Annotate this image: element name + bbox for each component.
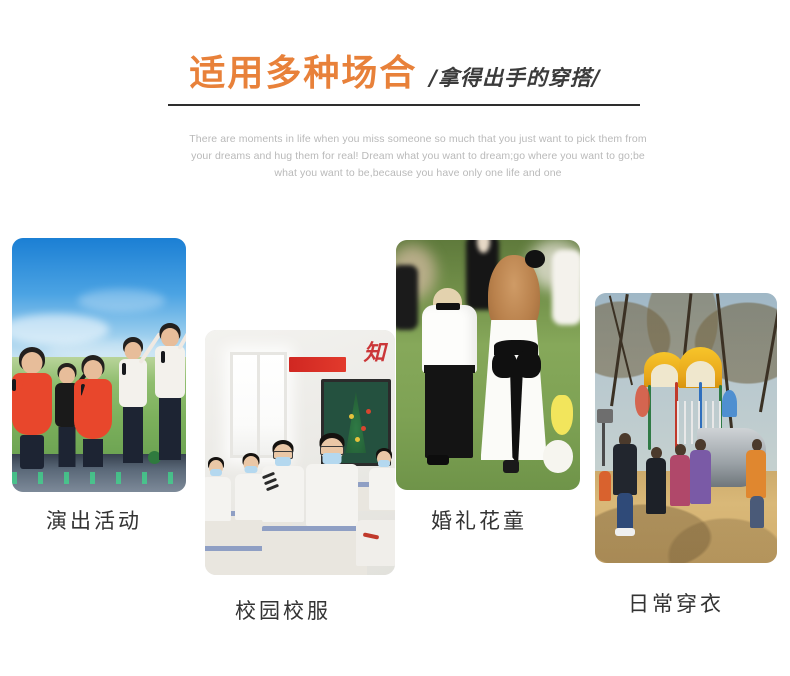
- boy-trousers: [425, 370, 473, 458]
- photo-playground: [595, 293, 777, 563]
- girl-shoe: [503, 460, 520, 473]
- photo-classroom: 知: [205, 330, 395, 575]
- visitor-shoes: [615, 528, 635, 536]
- student-figure-glasses: [258, 440, 307, 543]
- photo-card-performance[interactable]: [12, 238, 186, 492]
- decor-flower: [635, 385, 650, 417]
- wedding-guest: [552, 250, 580, 325]
- photo-card-daily-wear[interactable]: [595, 293, 777, 563]
- section-header: 适用多种场合 /拿得出手的穿搭/: [0, 44, 790, 96]
- boy-collar-tie: [436, 303, 460, 311]
- photo-card-wedding[interactable]: [396, 240, 580, 490]
- red-banner: [289, 357, 346, 372]
- girl-hair-bow: [525, 250, 545, 268]
- photo-wedding: [396, 240, 580, 490]
- caption-performance: 演出活动: [46, 505, 142, 535]
- wedding-guest: [396, 265, 418, 330]
- header-divider: [168, 104, 640, 106]
- boy-shoe: [427, 455, 449, 465]
- caption-daily-wear: 日常穿衣: [628, 588, 724, 618]
- decor-umbrella: [722, 390, 737, 417]
- flower-bouquet: [543, 440, 572, 473]
- lamp-post: [602, 417, 605, 466]
- caption-school-uniform: 校园校服: [235, 595, 331, 625]
- page-subtitle: /拿得出手的穿搭/: [429, 62, 600, 92]
- photo-stage-performance: [12, 238, 186, 492]
- intro-paragraph: There are moments in life when you miss …: [180, 131, 656, 182]
- student-figure: [353, 516, 395, 575]
- performer-child: [12, 349, 54, 477]
- performer-child: [116, 339, 150, 477]
- tree-ornament: [361, 426, 366, 431]
- yellow-ribbon: [551, 395, 573, 435]
- lamp-head: [597, 409, 613, 423]
- wall-calligraphy: 知: [363, 335, 385, 367]
- cloud-shape: [78, 289, 165, 312]
- photo-card-school-uniform[interactable]: 知: [205, 330, 395, 575]
- page-title: 适用多种场合: [189, 44, 417, 96]
- boy-shirt: [422, 305, 477, 373]
- performer-child: [72, 357, 114, 477]
- title-row: 适用多种场合 /拿得出手的穿搭/: [189, 44, 600, 96]
- tree-ornament: [366, 409, 371, 414]
- caption-wedding: 婚礼花童: [431, 505, 527, 535]
- performer-child: [152, 325, 186, 477]
